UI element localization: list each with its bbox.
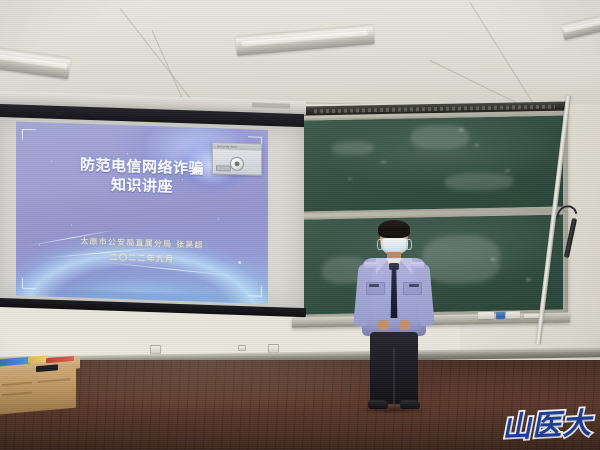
- slide-corner-bracket: [22, 129, 36, 140]
- slide-corner-bracket: [22, 278, 36, 289]
- presenter-hair: [378, 220, 410, 238]
- dialog-title-bar: Security Alert: [213, 143, 261, 151]
- wall-outlet[interactable]: [150, 345, 161, 354]
- blue-marker: [496, 312, 505, 319]
- slide-title-line1: 防范电信网络诈骗: [80, 156, 204, 178]
- classroom-photo: 防范电信网络诈骗 知识讲座 太原市公安局直属分局 张昊超 二〇二二年九月 Sec…: [0, 0, 600, 450]
- chalk-eraser: [478, 312, 494, 319]
- presenter-left-hand: [378, 320, 389, 330]
- blackboard-upper-panel: [299, 114, 565, 214]
- dialog-ok-button[interactable]: [216, 165, 231, 171]
- police-officer-presenter: [354, 222, 434, 412]
- chalk-eraser: [506, 311, 520, 318]
- black-shoes: [400, 400, 420, 409]
- slide-presenter-line: 太原市公安局直属分局 张昊超: [80, 237, 203, 250]
- presentation-slide: 防范电信网络诈骗 知识讲座 太原市公安局直属分局 张昊超 二〇二二年九月 Sec…: [16, 122, 268, 304]
- uniform-badge-left: [369, 284, 379, 287]
- uniform-badge-right: [409, 284, 419, 287]
- security-alert-dialog[interactable]: Security Alert: [212, 142, 262, 176]
- screen-surface: 防范电信网络诈骗 知识讲座 太原市公安局直属分局 张昊超 二〇二二年九月 Sec…: [0, 117, 304, 309]
- dialog-title: Security Alert: [217, 144, 237, 150]
- wooden-podium[interactable]: [0, 356, 80, 421]
- projection-screen: 防范电信网络诈骗 知识讲座 太原市公安局直属分局 张昊超 二〇二二年九月 Sec…: [0, 91, 306, 323]
- shoulder-epaulets: [364, 262, 378, 268]
- podium-body: [0, 368, 76, 415]
- ceiling-fluorescent-light: [0, 47, 71, 79]
- trousers: [370, 332, 418, 404]
- shield-gear-icon: [230, 157, 244, 171]
- shoulder-epaulets: [410, 262, 424, 268]
- ceiling-fluorescent-light: [235, 24, 374, 56]
- presenter-right-hand: [399, 320, 410, 330]
- blackboard: [300, 101, 572, 318]
- ceiling-fluorescent-light: [561, 12, 600, 40]
- watermark-text: 山医大: [501, 409, 592, 443]
- watermark-logo: 山医大: [501, 409, 592, 443]
- slide-title-line2: 知识讲座: [16, 173, 268, 200]
- black-shoes: [368, 400, 388, 409]
- wall-outlet[interactable]: [238, 345, 246, 351]
- trouser-seam: [393, 348, 395, 404]
- slide-corner-bracket: [248, 285, 262, 296]
